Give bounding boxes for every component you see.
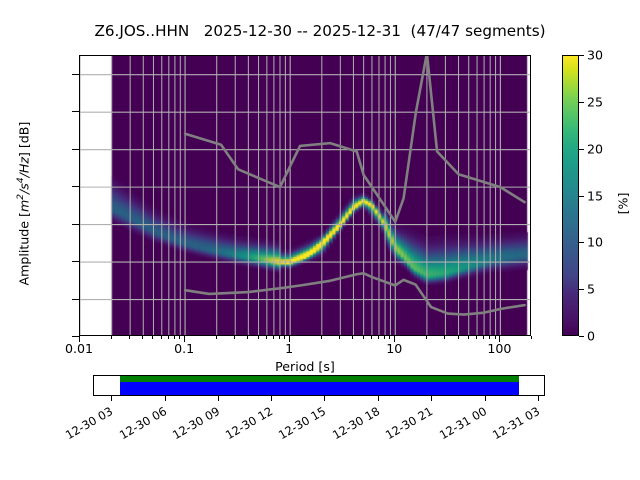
time-tick-mark	[538, 396, 539, 401]
x-minor-tick	[321, 336, 322, 339]
x-minor-tick	[179, 336, 180, 339]
time-tick-label: 12-31 03	[490, 404, 542, 442]
y-tick-mark	[72, 149, 79, 150]
colorbar[interactable]	[562, 55, 579, 336]
colorbar-tick-label: 0	[587, 329, 595, 344]
x-minor-tick	[174, 336, 175, 339]
colorbar-tick-label: 30	[587, 48, 603, 63]
colorbar-tick-mark	[579, 242, 584, 243]
time-tick-label: 12-30 15	[276, 404, 328, 442]
colorbar-tick-mark	[579, 102, 584, 103]
time-tick-mark	[378, 396, 379, 401]
time-tick-mark	[431, 396, 432, 401]
time-tick-mark	[485, 396, 486, 401]
colorbar-tick-mark	[579, 196, 584, 197]
colorbar-tick-mark	[579, 336, 584, 337]
time-tick-label: 12-30 06	[117, 404, 169, 442]
x-minor-tick	[279, 336, 280, 339]
x-minor-tick	[152, 336, 153, 339]
time-tick-mark	[165, 396, 166, 401]
y-tick-mark	[72, 299, 79, 300]
x-minor-tick	[483, 336, 484, 339]
x-minor-tick	[247, 336, 248, 339]
ppsd-figure: Z6.JOS..HHN 2025-12-30 -- 2025-12-31 (47…	[0, 0, 640, 480]
x-minor-tick	[142, 336, 143, 339]
time-tick-label: 12-30 18	[330, 404, 382, 442]
data-coverage-bar[interactable]	[93, 375, 545, 396]
x-axis-label: Period [s]	[79, 359, 531, 374]
y-tick-mark	[72, 74, 79, 75]
time-tick-label: 12-30 03	[63, 404, 115, 442]
x-minor-tick	[426, 336, 427, 339]
x-minor-tick	[168, 336, 169, 339]
x-minor-tick	[352, 336, 353, 339]
x-minor-tick	[266, 336, 267, 339]
x-minor-tick	[476, 336, 477, 339]
y-axis-label: Amplitude [m2/s4/Hz] [dB]	[16, 54, 31, 354]
colorbar-tick-label: 10	[587, 235, 603, 250]
x-minor-tick	[378, 336, 379, 339]
x-minor-tick	[389, 336, 390, 339]
time-tick-mark	[111, 396, 112, 401]
noise-model-curves	[80, 56, 530, 335]
x-tick-label: 1	[285, 341, 293, 356]
x-minor-tick	[339, 336, 340, 339]
ppsd-axes[interactable]	[79, 55, 531, 336]
figure-title: Z6.JOS..HHN 2025-12-30 -- 2025-12-31 (47…	[0, 22, 640, 40]
x-minor-tick	[384, 336, 385, 339]
x-minor-tick	[234, 336, 235, 339]
time-tick-mark	[324, 396, 325, 401]
y-tick-mark	[72, 336, 79, 337]
time-tick-mark	[218, 396, 219, 401]
y-tick-mark	[72, 186, 79, 187]
y-tick-mark	[72, 111, 79, 112]
y-tick-mark	[72, 224, 79, 225]
x-tick-label: 0.01	[65, 341, 93, 356]
time-tick-label: 12-30 09	[170, 404, 222, 442]
colorbar-tick-label: 5	[587, 282, 595, 297]
x-minor-tick	[111, 336, 112, 339]
y-axis-label-text: Amplitude [m2/s4/Hz] [dB]	[17, 122, 32, 286]
time-tick-label: 12-30 12	[223, 404, 275, 442]
x-minor-tick	[489, 336, 490, 339]
x-minor-tick	[161, 336, 162, 339]
ppsd-plot-area	[80, 56, 530, 335]
coverage-data	[120, 382, 519, 395]
time-tick-mark	[271, 396, 272, 401]
x-minor-tick	[273, 336, 274, 339]
x-minor-tick	[284, 336, 285, 339]
x-minor-tick	[258, 336, 259, 339]
time-tick-label: 12-30 21	[383, 404, 435, 442]
x-minor-tick	[444, 336, 445, 339]
x-minor-tick	[363, 336, 364, 339]
colorbar-tick-mark	[579, 149, 584, 150]
x-minor-tick	[129, 336, 130, 339]
time-tick-label: 12-31 00	[437, 404, 489, 442]
x-minor-tick	[371, 336, 372, 339]
x-minor-tick	[531, 336, 532, 339]
x-minor-tick	[458, 336, 459, 339]
x-minor-tick	[495, 336, 496, 339]
colorbar-tick-label: 15	[587, 188, 603, 203]
x-tick-label: 10	[386, 341, 402, 356]
x-minor-tick	[216, 336, 217, 339]
x-tick-label: 100	[487, 341, 511, 356]
x-minor-tick	[468, 336, 469, 339]
colorbar-tick-mark	[579, 289, 584, 290]
colorbar-tick-label: 25	[587, 94, 603, 109]
colorbar-label: [%]	[616, 134, 631, 274]
colorbar-tick-label: 20	[587, 141, 603, 156]
colorbar-tick-mark	[579, 55, 584, 56]
x-tick-label: 0.1	[174, 341, 194, 356]
y-tick-mark	[72, 261, 79, 262]
